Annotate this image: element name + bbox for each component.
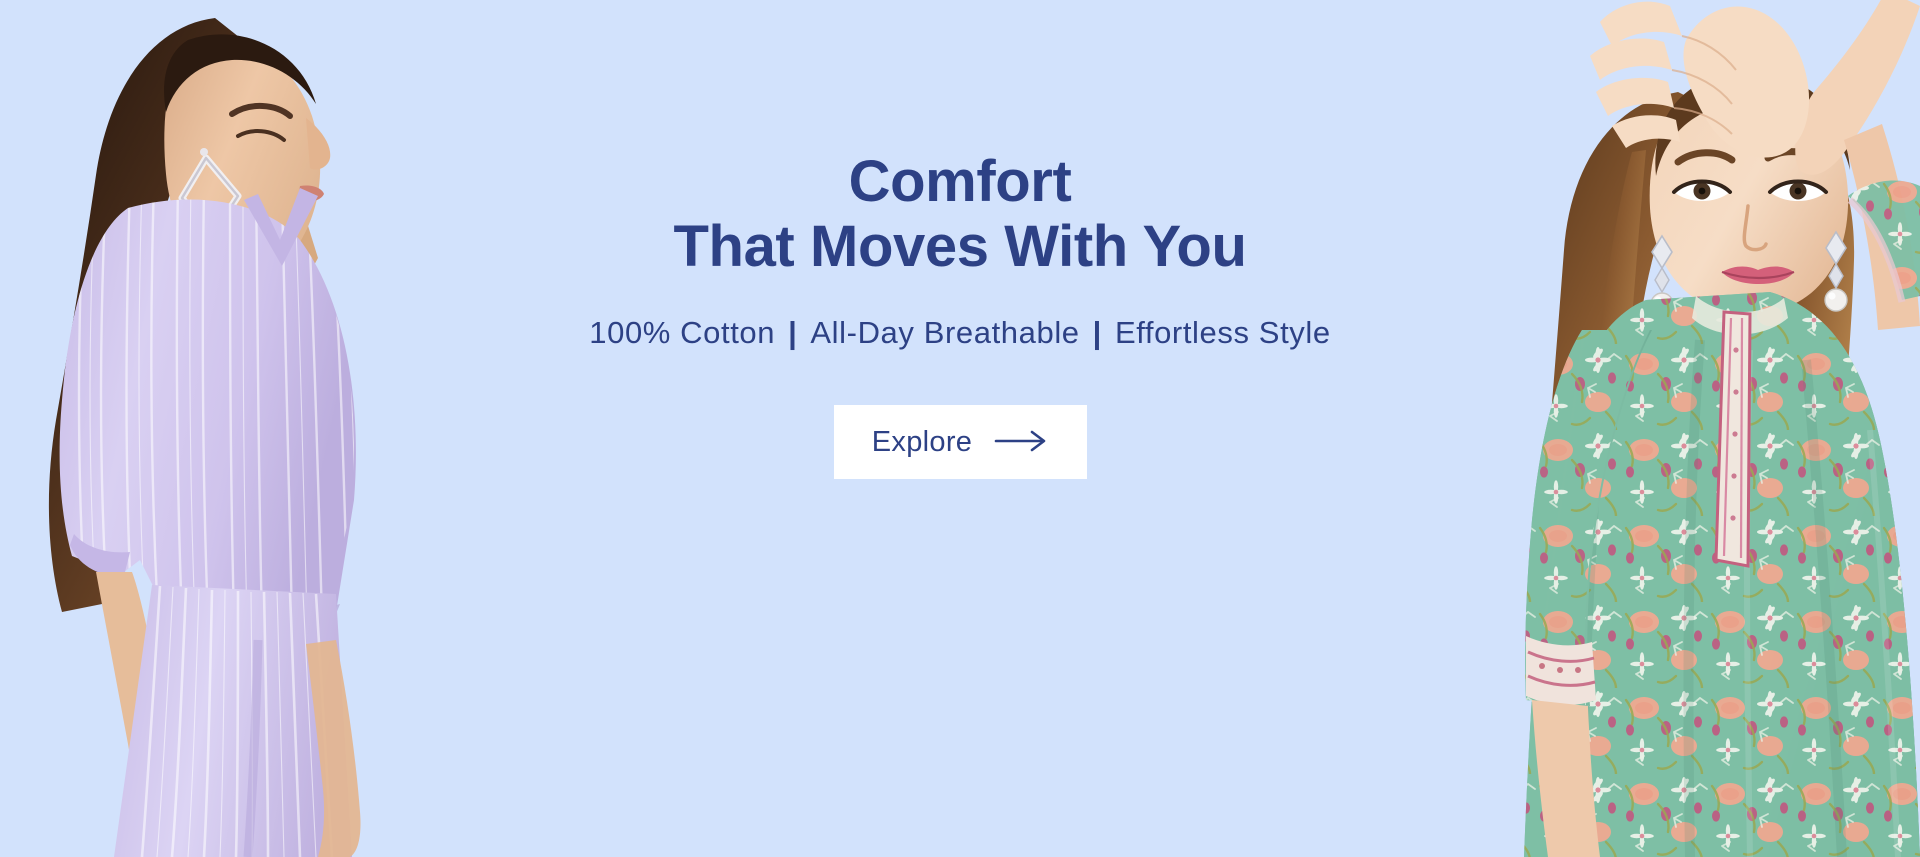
headline-line-2: That Moves With You	[674, 214, 1247, 279]
right-model-hand	[1590, 2, 1809, 158]
subhead-item-cotton: 100% Cotton	[589, 314, 775, 351]
promo-banner: Comfort That Moves With You 100% Cotton …	[0, 0, 1920, 857]
subhead-item-breathable: All-Day Breathable	[810, 314, 1079, 351]
left-model-trousers	[114, 585, 352, 857]
left-model-right-arm	[306, 640, 361, 857]
cta-container: Explore	[834, 405, 1087, 479]
left-model-arm	[70, 534, 193, 857]
headline-line-1: Comfort	[849, 149, 1072, 214]
banner-copy: Comfort That Moves With You 100% Cotton …	[0, 150, 1920, 479]
left-model-closed-eye	[238, 131, 284, 140]
banner-subheading: 100% Cotton | All-Day Breathable | Effor…	[589, 314, 1330, 351]
subhead-item-style: Effortless Style	[1115, 314, 1331, 351]
explore-button-label: Explore	[872, 426, 972, 459]
subhead-separator-1: |	[788, 314, 797, 351]
explore-button[interactable]: Explore	[834, 405, 1087, 479]
page-title: Comfort That Moves With You	[674, 150, 1247, 280]
subhead-separator-2: |	[1093, 314, 1102, 351]
arrow-right-icon	[994, 430, 1048, 455]
left-model-hair-front	[164, 34, 316, 112]
right-model-left-forearm	[1532, 700, 1600, 857]
left-model-eyebrow	[232, 106, 290, 116]
